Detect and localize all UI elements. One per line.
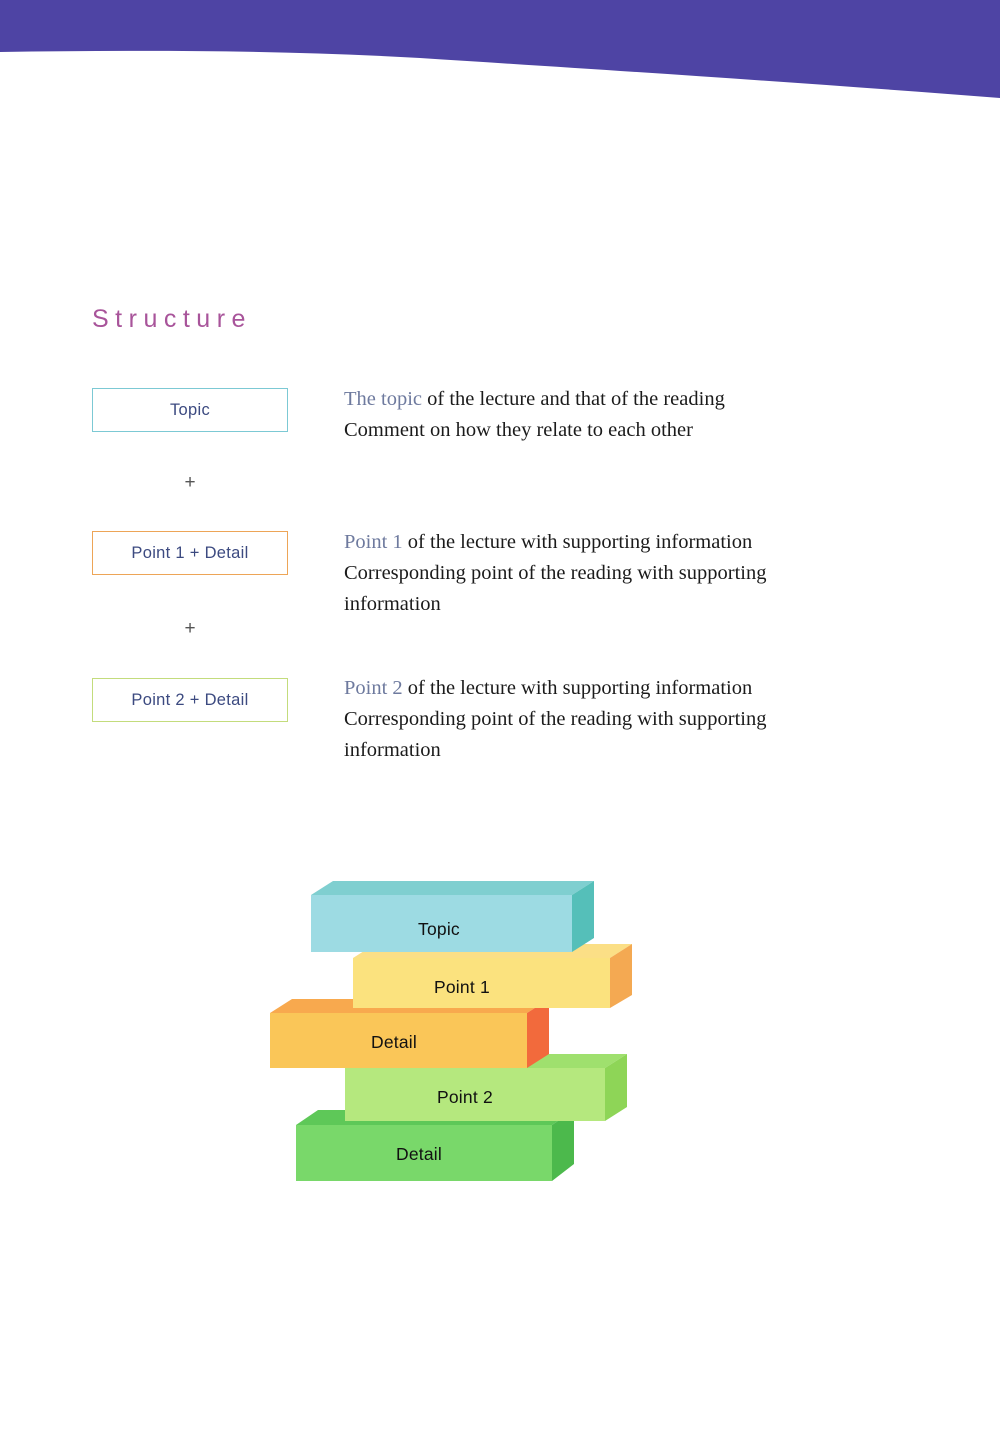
outline-box-topic-label: Topic	[170, 401, 210, 420]
block-label-point-1: Point 1	[434, 977, 490, 998]
block-label-point-2: Point 2	[437, 1087, 493, 1108]
block-detail-top-top	[270, 999, 549, 1013]
plus-separator-2: +	[92, 619, 288, 638]
outline-box-point1[interactable]: Point 1 + Detail	[92, 531, 288, 575]
block-point-1-top	[353, 944, 632, 958]
block-topic	[311, 881, 594, 952]
page-title: Structure	[92, 305, 252, 334]
description-topic-line2: Comment on how they relate to each other	[344, 419, 693, 441]
block-point-2-top	[345, 1054, 627, 1068]
block-point-2-side	[605, 1054, 627, 1121]
block-topic-side	[572, 881, 594, 952]
block-point-1-side	[610, 944, 632, 1008]
description-point1: Point 1 of the lecture with supporting i…	[344, 527, 864, 620]
description-point2-highlight: Point 2	[344, 677, 403, 699]
block-label-detail-bottom: Detail	[396, 1144, 442, 1165]
description-point2-line2: Corresponding point of the reading with …	[344, 708, 766, 730]
block-label-detail-top: Detail	[371, 1032, 417, 1053]
description-point1-line3: information	[344, 593, 441, 615]
description-topic-rest: of the lecture and that of the reading	[422, 388, 725, 410]
description-topic: The topic of the lecture and that of the…	[344, 384, 864, 446]
block-label-topic: Topic	[418, 919, 460, 940]
block-topic-top	[311, 881, 594, 895]
description-point2-line3: information	[344, 739, 441, 761]
outline-box-topic[interactable]: Topic	[92, 388, 288, 432]
outline-box-point2-label: Point 2 + Detail	[131, 691, 248, 710]
description-point1-highlight: Point 1	[344, 531, 403, 553]
description-topic-highlight: The topic	[344, 388, 422, 410]
block-point-1	[353, 944, 632, 1008]
outline-box-point2[interactable]: Point 2 + Detail	[92, 678, 288, 722]
description-point1-rest: of the lecture with supporting informati…	[403, 531, 753, 553]
block-detail-bottom-side	[552, 1110, 574, 1181]
description-point2: Point 2 of the lecture with supporting i…	[344, 673, 864, 766]
outline-box-point1-label: Point 1 + Detail	[131, 544, 248, 563]
description-point2-rest: of the lecture with supporting informati…	[403, 677, 753, 699]
plus-separator-1: +	[92, 473, 288, 492]
page-content: Structure Topic + Point 1 + Detail + Poi…	[0, 0, 1000, 1439]
description-point1-line2: Corresponding point of the reading with …	[344, 562, 766, 584]
block-detail-top-side	[527, 999, 549, 1068]
block-detail-bottom-top	[296, 1110, 574, 1125]
